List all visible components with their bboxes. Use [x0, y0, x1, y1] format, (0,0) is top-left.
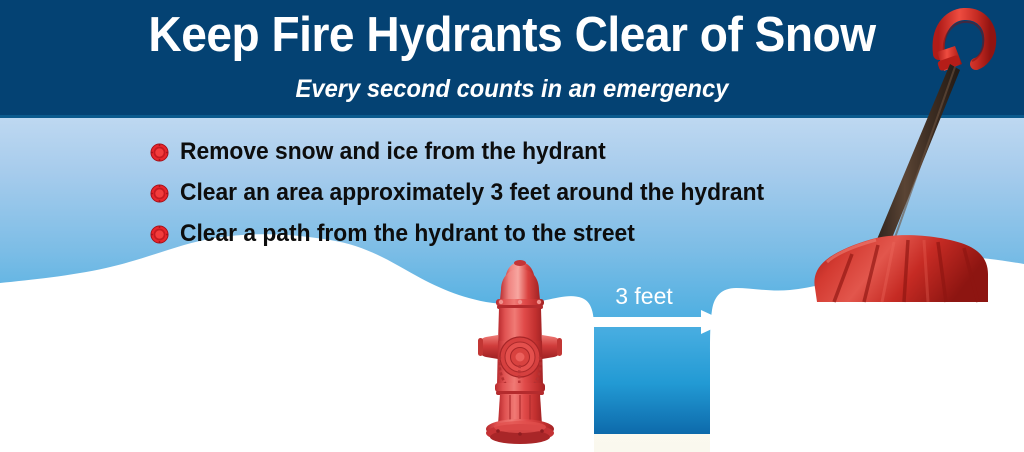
- measure-right-label: 3 feet: [561, 283, 727, 310]
- fire-hydrant-icon: [476, 257, 564, 447]
- list-item-label: Clear an area approximately 3 feet aroun…: [180, 179, 764, 206]
- list-item-label: Clear a path from the hydrant to the str…: [180, 220, 635, 247]
- snow-shovel-icon: [812, 2, 1002, 312]
- measure-left-label: 3 feet: [285, 283, 451, 310]
- list-item-label: Remove snow and ice from the hydrant: [180, 138, 606, 165]
- measure-right: 3 feet: [561, 283, 727, 333]
- measure-left: 3 feet: [285, 283, 451, 333]
- infographic-poster: 3 feet 3 feet: [0, 0, 1024, 452]
- double-arrow-icon: [285, 310, 451, 334]
- list-item: Clear an area approximately 3 feet aroun…: [150, 172, 910, 213]
- hydrant-cap-icon: [150, 225, 169, 244]
- list-item: Clear a path from the hydrant to the str…: [150, 213, 910, 254]
- instructions-list: Remove snow and ice from the hydrant Cle…: [150, 131, 910, 254]
- hydrant-cap-icon: [150, 184, 169, 203]
- double-arrow-icon: [561, 310, 727, 334]
- hydrant-cap-icon: [150, 143, 169, 162]
- list-item: Remove snow and ice from the hydrant: [150, 131, 910, 172]
